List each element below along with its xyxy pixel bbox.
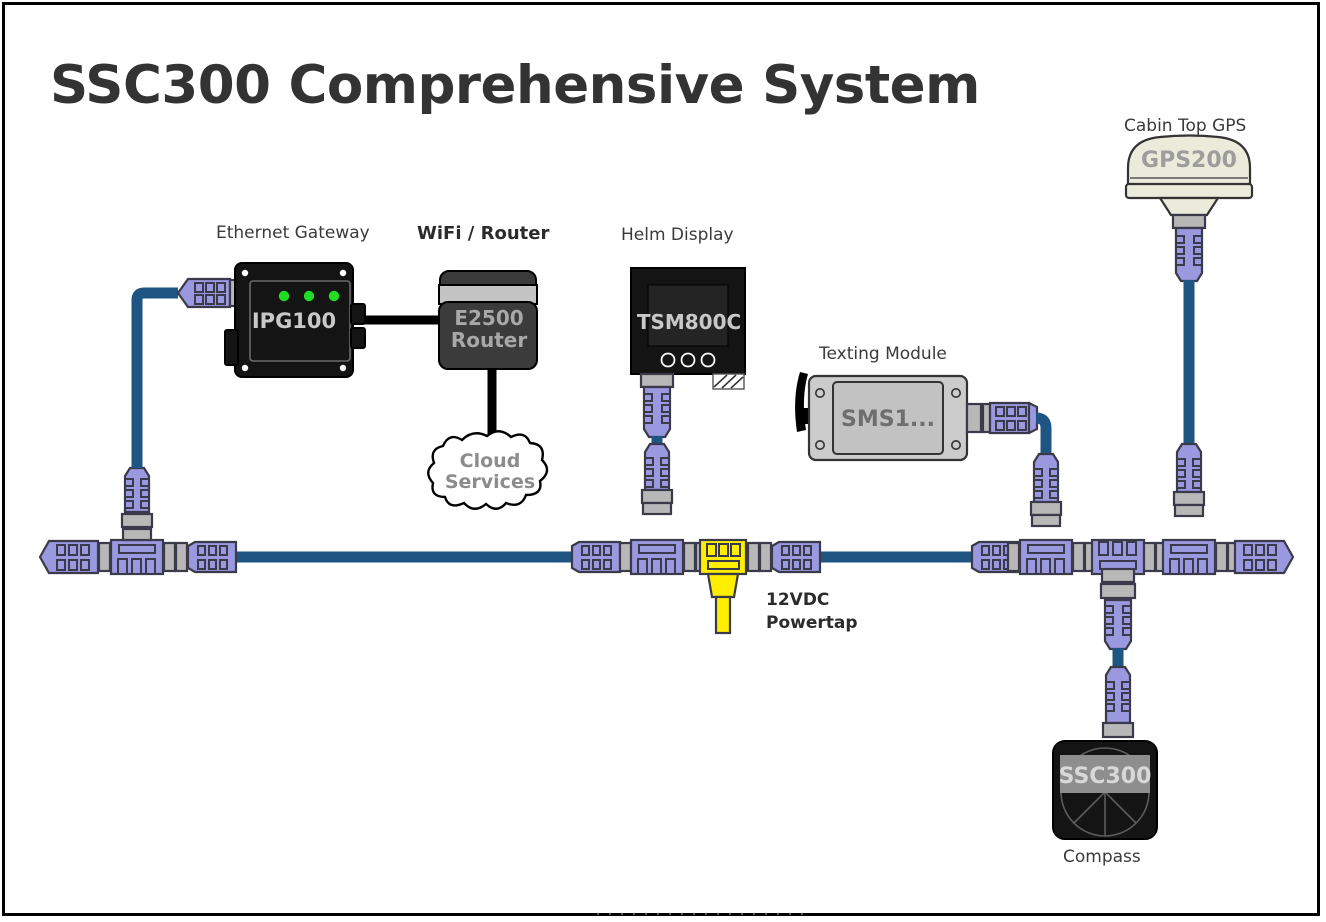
tee-ipg100 [111, 540, 163, 574]
collar [748, 543, 759, 571]
device-label-ssc300: SSC300 [1059, 764, 1152, 789]
terminator-left [40, 541, 98, 573]
collar [684, 543, 695, 571]
collar [164, 543, 175, 571]
tee-sms [1020, 540, 1072, 574]
cloud-label-line2: Services [445, 471, 535, 493]
collar [176, 543, 187, 571]
device-label-e2500-line1: E2500 [454, 306, 523, 330]
tee-gps200 [1163, 540, 1215, 574]
backbone-left-assembly [40, 468, 236, 574]
tee-stub-ipg100 [122, 468, 152, 540]
connector-sms-bus-end [1031, 454, 1061, 526]
powertap-tee[interactable] [700, 540, 746, 633]
inline-connector [188, 542, 236, 572]
led-indicator [279, 291, 289, 301]
backbone-center-assembly [572, 540, 820, 633]
connector-tsm800c-bus-end [642, 444, 672, 514]
device-ssc300-compass[interactable]: SSC300 [1053, 741, 1157, 839]
terminator-right [1235, 541, 1293, 573]
inline-connector [572, 542, 620, 572]
device-tsm800c[interactable]: TSM800C [631, 268, 745, 389]
connector-gps200-bus-end [1174, 444, 1204, 516]
collar [760, 543, 771, 571]
collar [99, 543, 110, 571]
diagram-canvas: IPG100 E2500 Router Cloud Services TSM80… [0, 0, 1326, 922]
inline-connector [772, 542, 820, 572]
cable-ipg100-drop [137, 293, 178, 468]
connector-tsm800c-device-end [641, 374, 673, 437]
collar [1008, 543, 1019, 571]
device-label-sms: SMS1... [841, 407, 935, 432]
collar [620, 543, 631, 571]
cloud-label-line1: Cloud [460, 450, 521, 472]
led-indicator [304, 291, 314, 301]
connector-sms-device-end [967, 403, 1037, 433]
connector-ssc300-bus-end [1101, 569, 1135, 649]
collar [1216, 543, 1227, 571]
collar [1144, 543, 1155, 571]
device-e2500-router[interactable]: E2500 Router [439, 271, 537, 369]
device-label-ipg100: IPG100 [252, 309, 336, 333]
device-sms-module[interactable]: SMS1... [795, 372, 967, 460]
tee-tsm800c [631, 540, 683, 574]
collar [1073, 543, 1084, 571]
device-label-gps200: GPS200 [1141, 148, 1237, 173]
connector-gps200-device-end [1173, 215, 1205, 281]
diagram-page: SSC300 Comprehensive System Ethernet Gat… [0, 0, 1326, 922]
mounting-bracket-icon [713, 374, 744, 389]
device-label-e2500-line2: Router [451, 328, 528, 352]
led-indicator [329, 291, 339, 301]
cloud-services-node: Cloud Services [428, 431, 547, 509]
device-gps200[interactable]: GPS200 [1126, 136, 1252, 216]
device-ipg100[interactable]: IPG100 [225, 263, 365, 377]
device-label-tsm800c: TSM800C [637, 310, 741, 334]
connector-ssc300-device-end [1103, 667, 1133, 737]
